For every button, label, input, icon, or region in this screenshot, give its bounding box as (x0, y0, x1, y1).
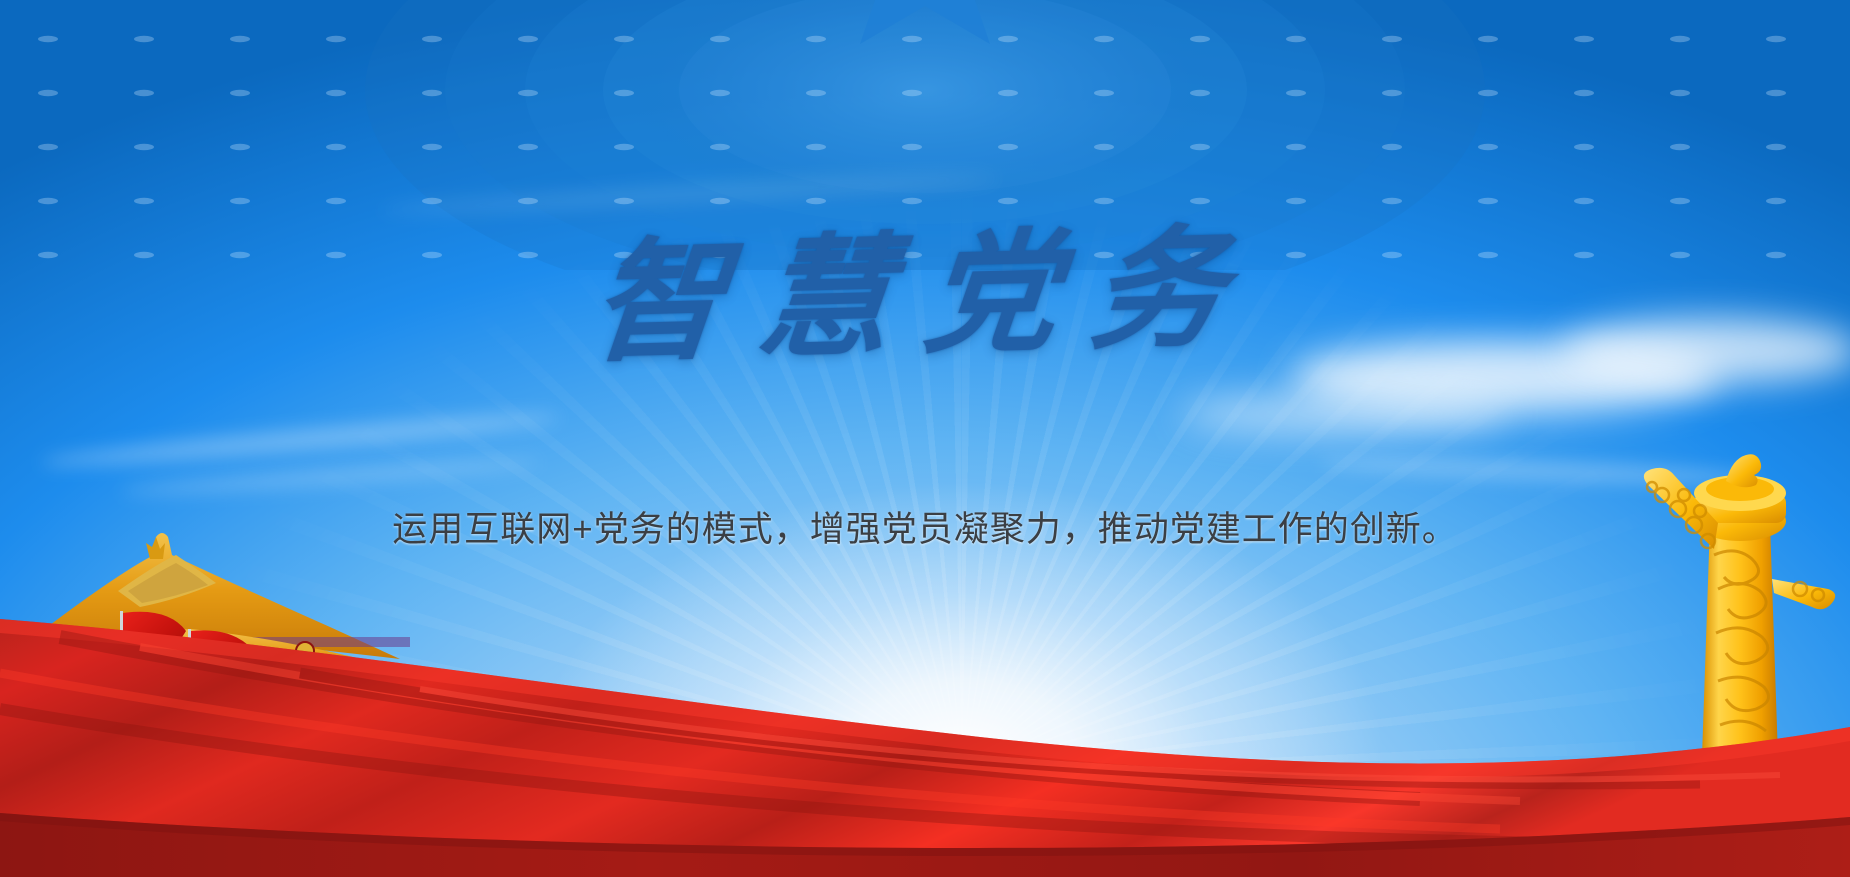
ribbon-svg (0, 577, 1850, 877)
party-affairs-hero-banner: 智慧党务 运用互联网+党务的模式，增强党员凝聚力，推动党建工作的创新。 (0, 0, 1850, 877)
cloud-3 (1180, 392, 1510, 436)
red-silk-ribbon (0, 577, 1850, 877)
pillar-finial (1726, 454, 1761, 487)
